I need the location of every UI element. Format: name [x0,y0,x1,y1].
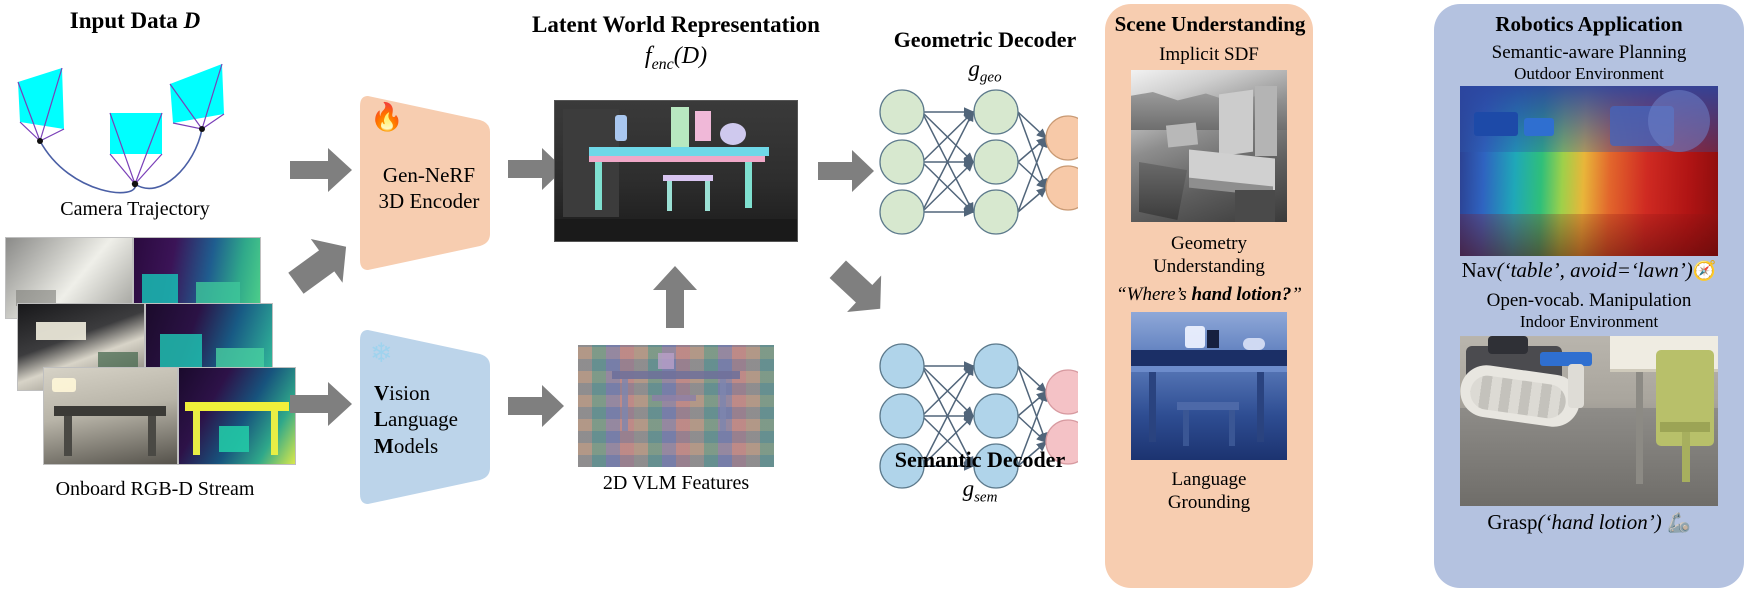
vlm-line-2-rest: anguage [388,407,458,431]
sem-formula-sub: sem [974,490,997,506]
rgbd-frame-depth-3 [178,367,296,465]
vlm-line-1: Vision [374,380,504,406]
mechanical-arm-icon: 🦾 [1667,513,1691,534]
onboard-rgbd-stream-caption: Onboard RGB-D Stream [5,478,305,501]
vlm-features-caption: 2D VLM Features [568,472,784,495]
language-grounding-line-1: Language [1105,468,1313,491]
semantic-aware-planning-title: Semantic-aware Planning [1434,42,1744,64]
grasp-command-prefix: Grasp [1487,510,1537,534]
vlm-line-3-initial: M [374,434,394,458]
arrow-latent-to-geometric [818,150,874,192]
grasp-command-args: (‘hand lotion’) [1538,510,1662,534]
gen-nerf-encoder-block[interactable]: 🔥 Gen-NeRF 3D Encoder [354,88,504,278]
hand-lotion-query: “Where’s hand lotion?” [1105,284,1313,306]
arrow-stream-to-vlm [290,382,352,426]
input-data-heading-symbol: D [184,8,201,33]
latent-formula-f: f [645,43,652,69]
geo-formula-g: g [968,56,980,81]
sem-formula-g: g [963,476,975,501]
vlm-line-3: Models [374,433,504,459]
semantic-decoder-formula: gsem [880,476,1080,507]
implicit-sdf-image [1131,70,1287,222]
vlm-encoder-block[interactable]: ❄ Vision Language Models [354,322,504,512]
latent-formula-arg: (D) [674,43,707,69]
vlm-line-3-rest: odels [394,434,438,458]
outdoor-environment-label: Outdoor Environment [1434,64,1744,84]
latent-formula: fenc(D) [520,43,832,74]
outdoor-heatmap-image [1460,86,1718,256]
arrow-stream-to-encoder [288,232,354,298]
snowflake-icon: ❄ [370,340,393,367]
rgbd-frame-rgb-3 [43,367,178,465]
scene-understanding-title: Scene Understanding [1097,12,1323,37]
indoor-manipulation-image [1460,336,1718,506]
latent-world-representation-image [554,100,798,242]
geometry-understanding-caption: Geometry Understanding [1105,232,1313,278]
nav-command-args: (‘table’, avoid=‘lawn’) [1497,258,1693,282]
semantic-decoder-title: Semantic Decoder [880,448,1080,472]
nav-command-prefix: Nav [1462,258,1497,282]
vlm-line-2: Language [374,406,504,432]
arrow-latent-to-semantic [828,258,890,320]
language-grounding-line-2: Grounding [1105,491,1313,514]
vlm-line-1-rest: ision [389,381,430,405]
query-quote-open: “ [1116,284,1127,305]
arrow-cameras-to-encoder [290,148,352,192]
arrow-vlm-to-features [508,385,564,427]
language-grounding-caption: Language Grounding [1105,468,1313,514]
arrow-features-to-latent [653,266,697,328]
vlm-line-1-initial: V [374,381,389,405]
latent-title: Latent World Representation [520,12,832,37]
input-data-heading: Input Data D [10,8,260,33]
semantic-decoder-network [878,340,1078,497]
geo-formula-sub: geo [980,70,1002,86]
vlm-features-image [578,345,774,467]
gen-nerf-line-2: 3D Encoder [354,188,504,214]
camera-trajectory-caption: Camera Trajectory [10,198,260,221]
latent-formula-sub: enc [652,56,674,73]
geometric-decoder-formula: ggeo [880,56,1090,87]
geometric-decoder-title: Geometric Decoder [880,28,1090,52]
geometry-understanding-line-2: Understanding [1105,255,1313,278]
indoor-environment-label: Indoor Environment [1434,312,1744,332]
compass-icon: 🧭 [1693,261,1717,282]
robotics-application-title: Robotics Application [1434,12,1744,37]
open-vocab-manipulation-title: Open-vocab. Manipulation [1434,290,1744,312]
geometry-understanding-line-1: Geometry [1105,232,1313,255]
query-object: hand lotion? [1192,284,1292,305]
camera-trajectory-illustration [10,36,260,196]
query-quote-close: ” [1291,284,1302,305]
grasp-command: Grasp(‘hand lotion’) 🦾 [1434,510,1744,535]
nav-command: Nav(‘table’, avoid=‘lawn’)🧭 [1434,258,1744,283]
vlm-encoder-label: Vision Language Models [354,380,504,459]
input-data-heading-text: Input Data [70,8,178,33]
implicit-sdf-label: Implicit SDF [1105,44,1313,66]
gen-nerf-encoder-label: Gen-NeRF 3D Encoder [354,162,504,215]
geometric-decoder-network [878,86,1078,243]
fire-icon: 🔥 [370,104,404,131]
gen-nerf-line-1: Gen-NeRF [354,162,504,188]
vlm-line-2-initial: L [374,407,388,431]
query-prefix: Where’s [1127,284,1192,305]
language-grounding-image [1131,312,1287,460]
